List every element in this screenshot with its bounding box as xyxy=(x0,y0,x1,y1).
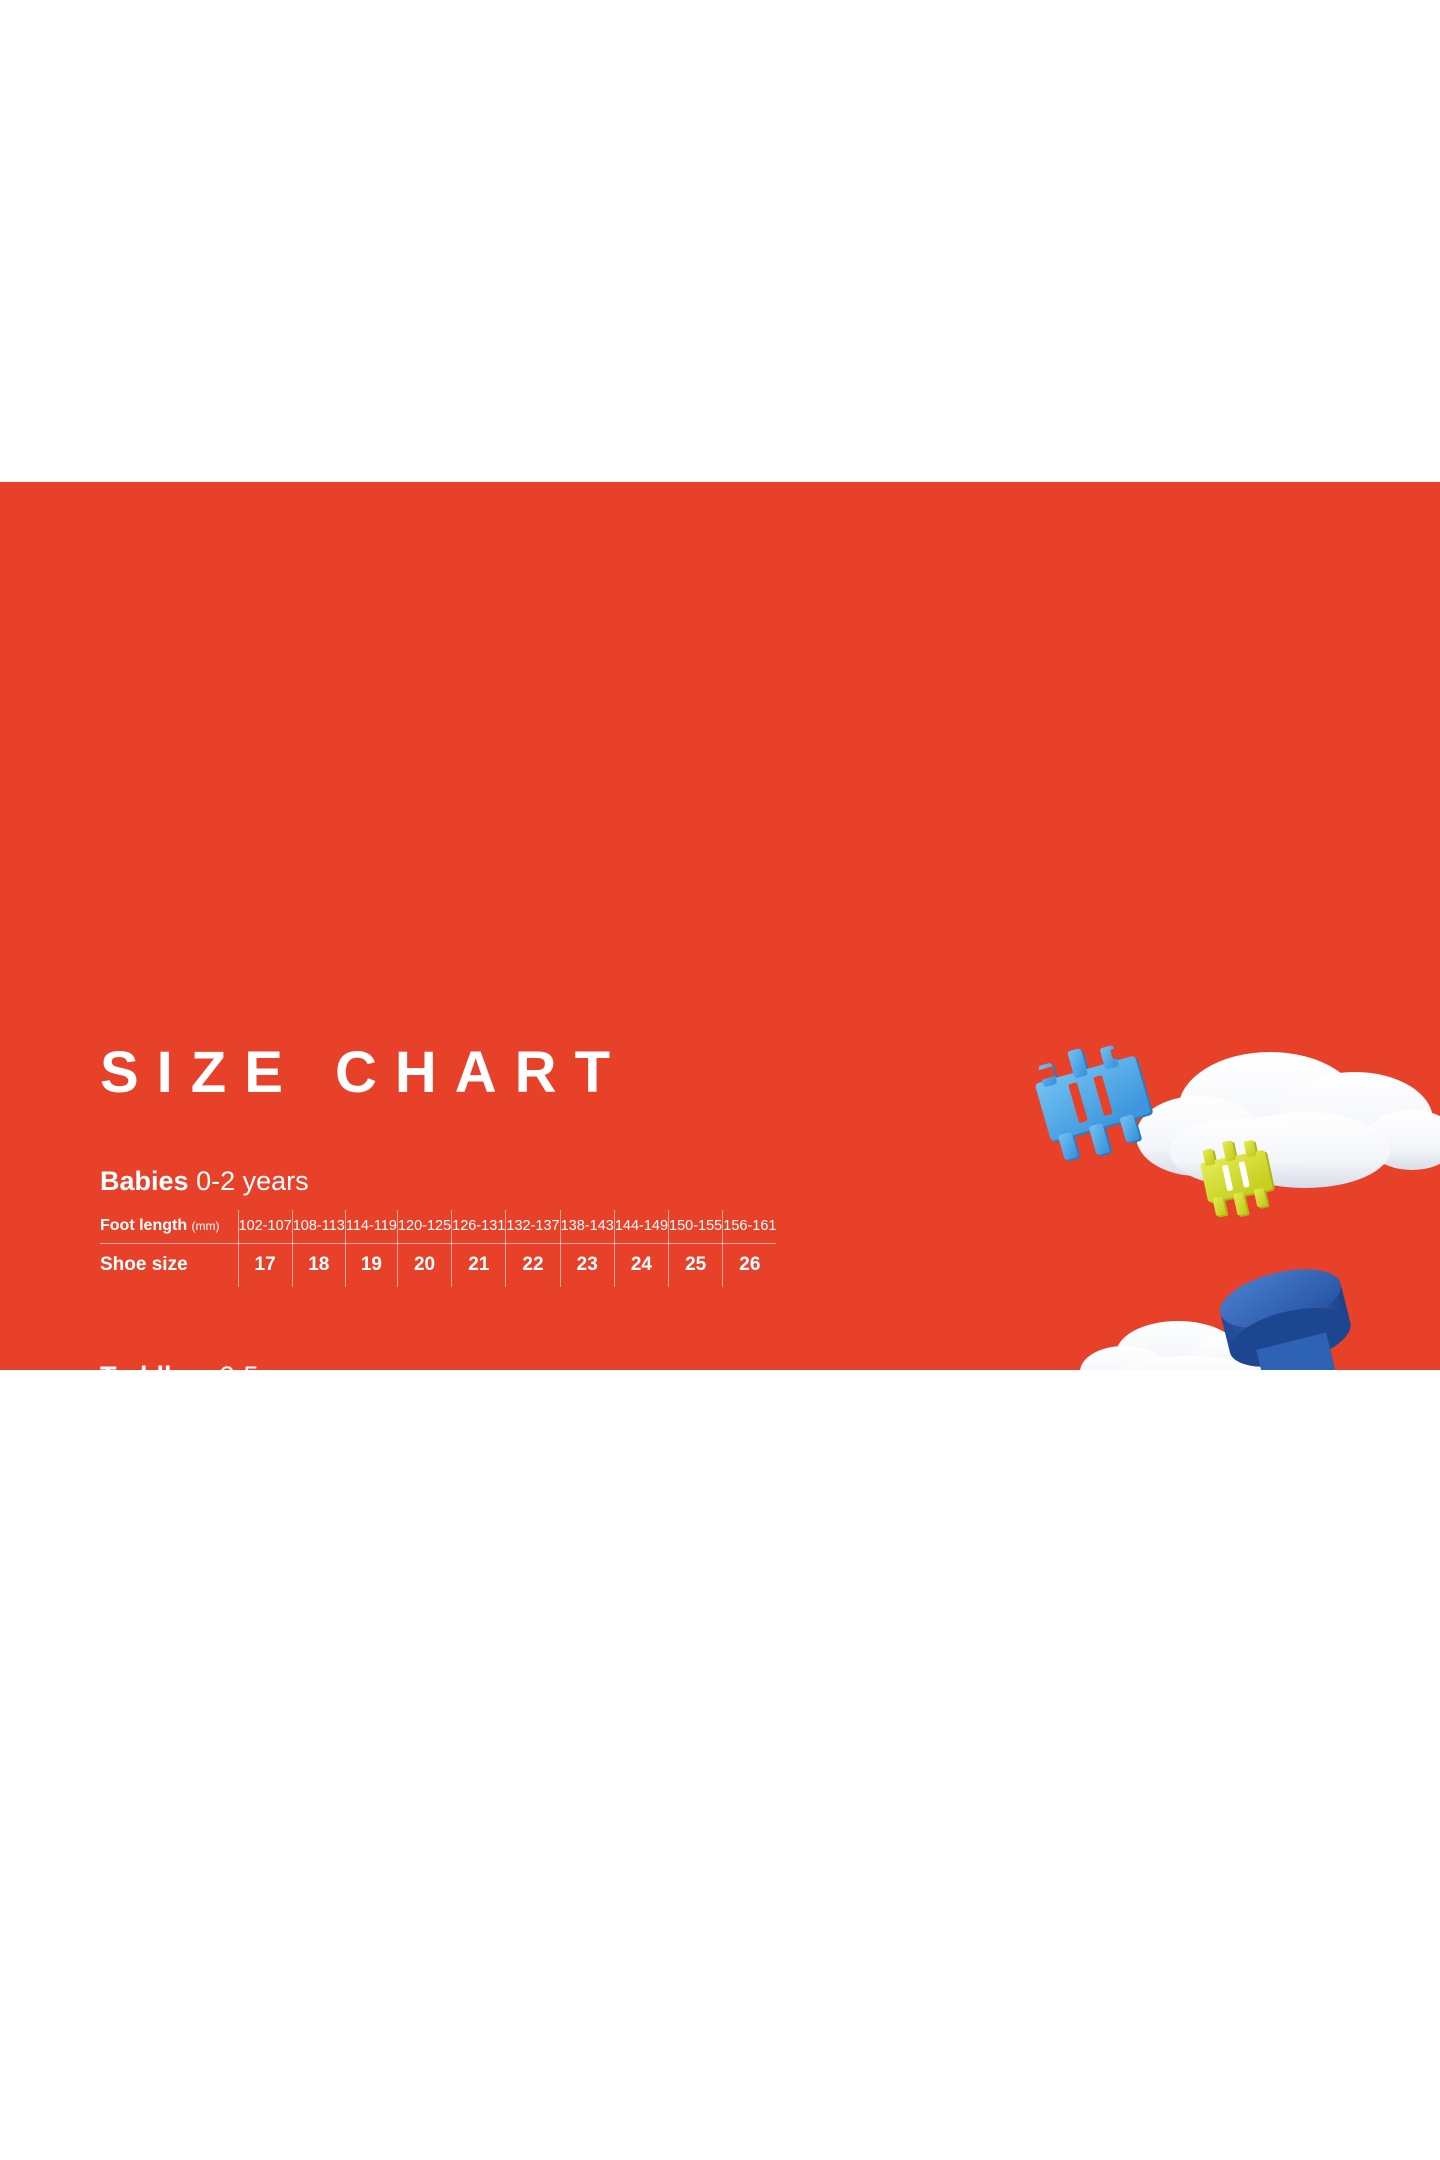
foot-length-unit: (mm) xyxy=(192,1219,220,1233)
table-cell: 126-131 xyxy=(452,1210,506,1243)
pixel-invader-yellow-icon xyxy=(1195,1137,1280,1222)
shoe-size-label: Shoe size xyxy=(100,1254,188,1275)
table-cell: 19 xyxy=(345,1243,397,1287)
section-name: Babies xyxy=(100,1166,189,1196)
table-cell: 17 xyxy=(238,1243,292,1287)
cloud-illustration-top xyxy=(1100,1032,1440,1202)
table-cell: 26 xyxy=(723,1243,777,1287)
table-cell: 114-119 xyxy=(345,1210,397,1243)
section-toddlers: Toddlers 2-5 years Foot length (mm) 162-… xyxy=(100,1361,725,1370)
section-age-range: 2-5 years xyxy=(220,1361,333,1370)
table-cell: 23 xyxy=(560,1243,614,1287)
table-cell: 132-137 xyxy=(506,1210,560,1243)
section-heading-babies: Babies 0-2 years xyxy=(100,1166,776,1197)
table-cell: 25 xyxy=(669,1243,723,1287)
section-babies: Babies 0-2 years Foot length (mm) 102-10… xyxy=(100,1166,776,1287)
pixel-invader-blue-icon xyxy=(1030,1042,1160,1162)
size-table-babies: Foot length (mm) 102-107 108-113 114-119… xyxy=(100,1210,776,1287)
table-cell: 138-143 xyxy=(560,1210,614,1243)
section-age-range: 0-2 years xyxy=(196,1166,309,1196)
blue-cube-and-cap-illustration xyxy=(1210,1257,1440,1370)
cloud-illustration-bottom xyxy=(1070,1302,1320,1370)
table-cell: 20 xyxy=(397,1243,451,1287)
table-cell: 22 xyxy=(506,1243,560,1287)
table-row-shoe-size: Shoe size 17 18 19 20 21 22 23 24 25 26 xyxy=(100,1243,776,1287)
section-heading-toddlers: Toddlers 2-5 years xyxy=(100,1361,725,1370)
table-cell: 24 xyxy=(614,1243,668,1287)
table-cell: 102-107 xyxy=(238,1210,292,1243)
table-cell: 108-113 xyxy=(292,1210,345,1243)
table-cell: 21 xyxy=(452,1243,506,1287)
size-chart-page: SIZE CHART Babies 0-2 years Foot length … xyxy=(0,0,1440,2160)
row-label-shoe-size: Shoe size xyxy=(100,1243,238,1287)
red-panel: SIZE CHART Babies 0-2 years Foot length … xyxy=(0,482,1440,1370)
table-cell: 120-125 xyxy=(397,1210,451,1243)
table-row-foot-length: Foot length (mm) 102-107 108-113 114-119… xyxy=(100,1210,776,1243)
table-cell: 156-161 xyxy=(723,1210,777,1243)
foot-length-label: Foot length xyxy=(100,1217,192,1234)
section-name: Toddlers xyxy=(100,1361,212,1370)
table-cell: 18 xyxy=(292,1243,345,1287)
page-title: SIZE CHART xyxy=(100,1044,628,1102)
table-cell: 150-155 xyxy=(669,1210,723,1243)
table-cell: 144-149 xyxy=(614,1210,668,1243)
row-label-foot-length: Foot length (mm) xyxy=(100,1210,238,1243)
